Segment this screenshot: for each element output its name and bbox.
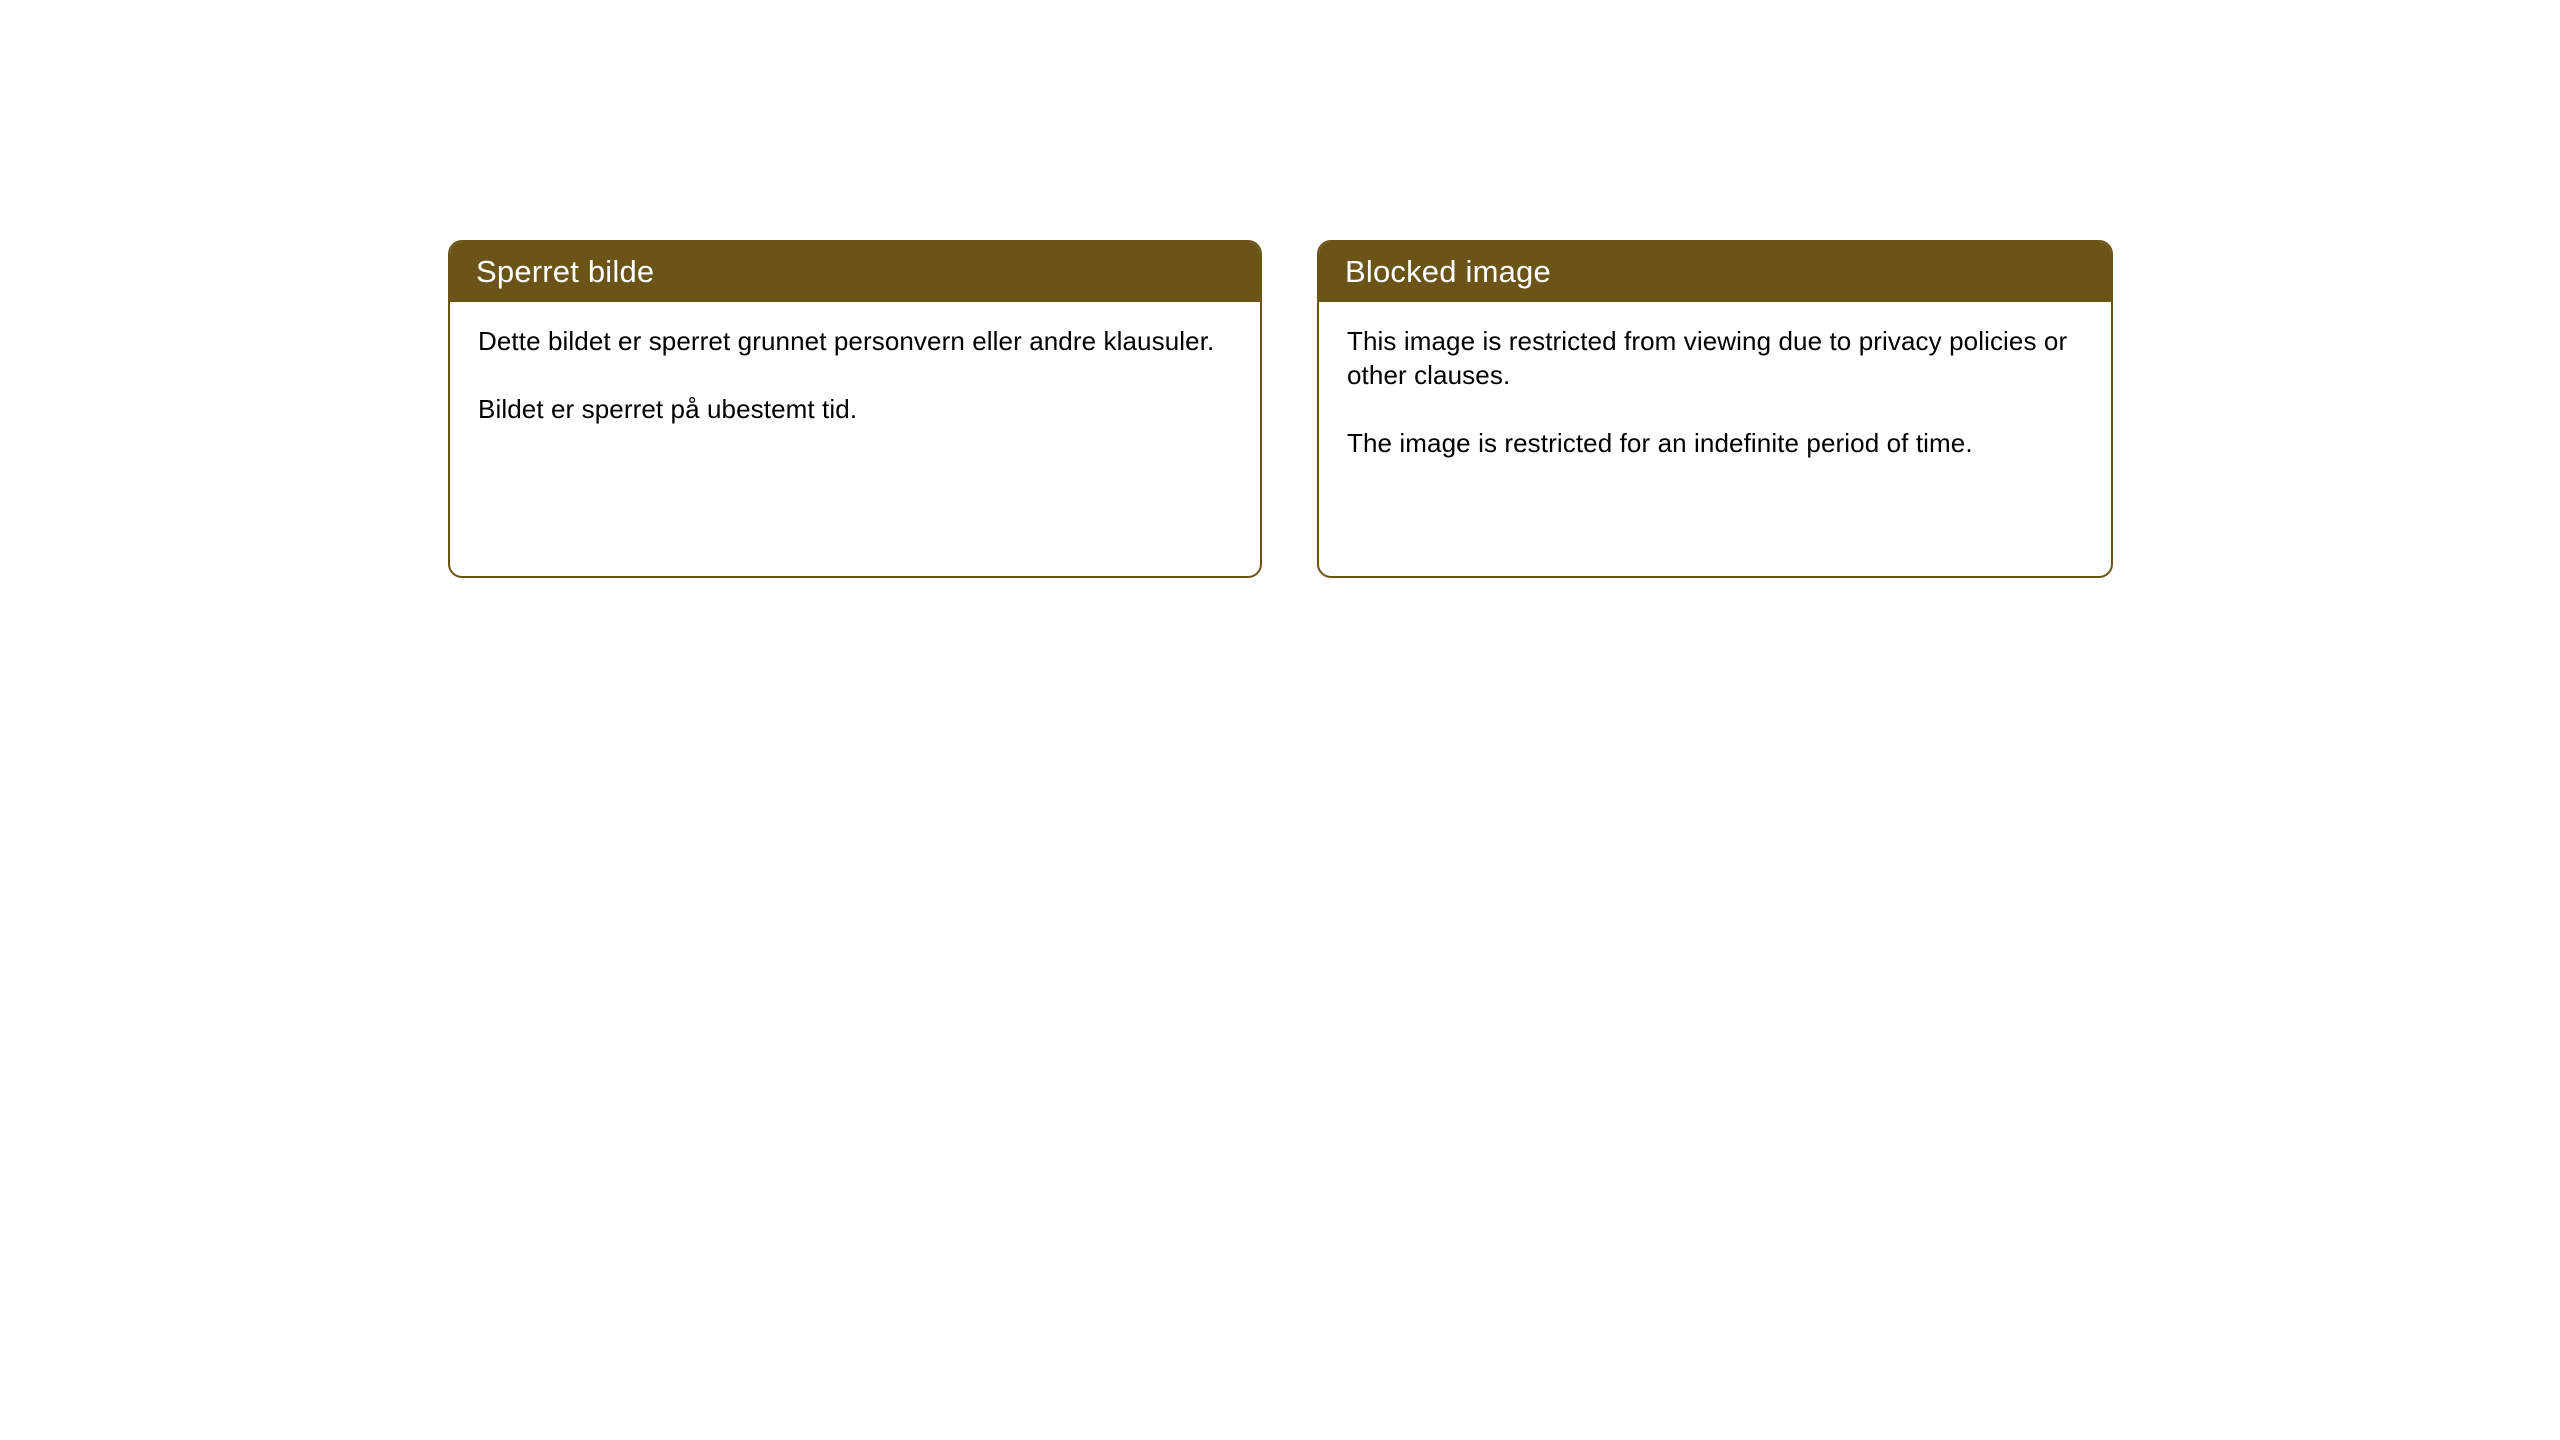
notice-title-english: Blocked image (1345, 256, 1551, 287)
notice-body-english: This image is restricted from viewing du… (1319, 302, 2111, 460)
notice-paragraph-reason-english: This image is restricted from viewing du… (1347, 324, 2085, 392)
notice-title-norwegian: Sperret bilde (476, 256, 654, 287)
notice-body-norwegian: Dette bildet er sperret grunnet personve… (450, 302, 1260, 426)
notice-header-norwegian: Sperret bilde (448, 240, 1262, 302)
blocked-image-notice-norwegian: Sperret bilde Dette bildet er sperret gr… (448, 240, 1262, 578)
notice-paragraph-duration-english: The image is restricted for an indefinit… (1347, 426, 2085, 460)
notice-paragraph-reason-norwegian: Dette bildet er sperret grunnet personve… (478, 324, 1234, 358)
notice-header-english: Blocked image (1317, 240, 2113, 302)
blocked-image-notice-english: Blocked image This image is restricted f… (1317, 240, 2113, 578)
page-root: Sperret bilde Dette bildet er sperret gr… (0, 0, 2560, 1440)
notice-paragraph-duration-norwegian: Bildet er sperret på ubestemt tid. (478, 392, 1234, 426)
